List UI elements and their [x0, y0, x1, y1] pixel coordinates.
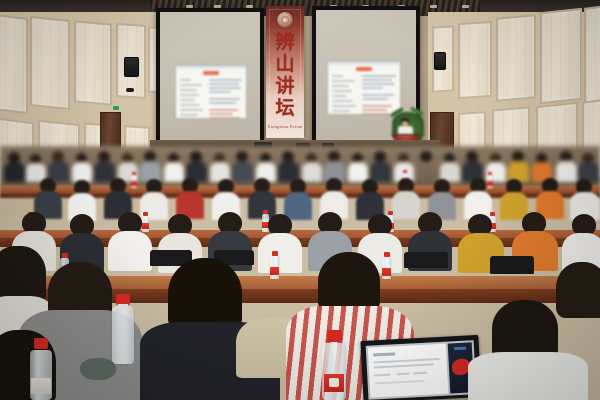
slide-title-block [203, 71, 219, 75]
banner-char-1: 辨 [266, 33, 304, 52]
banner-char-4: 坛 [266, 99, 304, 118]
university-crest-icon [277, 12, 293, 28]
banner-latin-subtitle: Xiangshan Forum [266, 124, 304, 129]
wall-panel [540, 8, 582, 104]
water-bottle [30, 338, 52, 400]
laptop-document [368, 344, 449, 398]
water-bottle [112, 294, 134, 364]
open-laptop[interactable] [360, 335, 481, 400]
slide-header-bar [176, 66, 246, 69]
ceiling-light [462, 5, 469, 8]
water-bottle [270, 251, 279, 279]
slide-left-column [180, 79, 204, 116]
banner-char-2: 山 [266, 55, 304, 74]
wall-panel [30, 16, 70, 110]
audience-person [168, 258, 242, 332]
slide-header-bar [328, 62, 400, 65]
wall-panel [74, 20, 112, 105]
slide-left-column [332, 75, 357, 112]
lecture-hall-photo: 辨 山 讲 坛 Xiangshan Forum [0, 0, 600, 400]
wall-speaker-left [124, 57, 139, 77]
wall-panel [584, 4, 600, 108]
chair-back [490, 256, 534, 274]
water-bottle [322, 330, 346, 400]
exit-sign-left [113, 106, 119, 110]
security-camera [126, 88, 134, 92]
slide-right-column [209, 79, 243, 118]
ceiling-light [430, 5, 437, 8]
vertical-banner: 辨 山 讲 坛 Xiangshan Forum [266, 6, 304, 138]
slide-right-column [362, 75, 396, 114]
audience-person [556, 262, 600, 318]
wall-speaker-right [434, 52, 446, 70]
audience-person [318, 252, 380, 314]
laptop-screen [366, 340, 477, 400]
water-bottle [382, 252, 391, 279]
wall-panel [458, 21, 492, 99]
banner-char-3: 讲 [266, 77, 304, 96]
audience-person-torso [468, 352, 588, 400]
slide-left [176, 66, 246, 118]
wall-panel [0, 14, 28, 114]
slide-right [328, 62, 400, 114]
projection-screen-left [156, 8, 264, 148]
chair-back [404, 252, 448, 268]
slide-title-block [356, 67, 372, 71]
wall-panel [496, 14, 536, 101]
floor-bag [80, 358, 116, 380]
